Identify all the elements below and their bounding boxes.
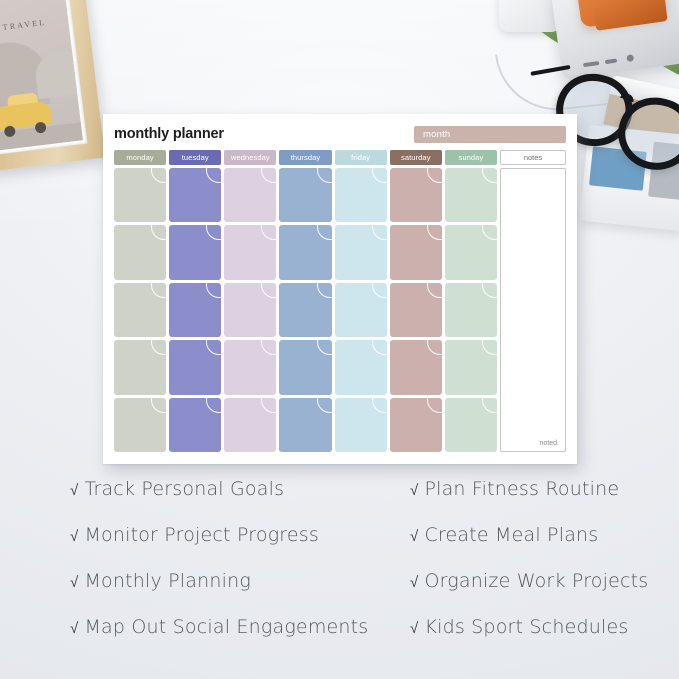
calendar-cell[interactable] bbox=[224, 398, 276, 452]
calendar-cell[interactable] bbox=[169, 340, 221, 394]
benefit-item: √Monthly Planning bbox=[70, 570, 410, 616]
calendar-cell[interactable] bbox=[335, 225, 387, 279]
benefit-item: √Plan Fitness Routine bbox=[410, 478, 679, 524]
calendar-cell[interactable] bbox=[445, 340, 497, 394]
calendar-cell[interactable] bbox=[335, 283, 387, 337]
benefit-label: Plan Fitness Routine bbox=[424, 478, 619, 500]
checkmark-icon: √ bbox=[410, 573, 418, 591]
benefit-item: √Organize Work Projects bbox=[410, 570, 679, 616]
notes-column: notes noted. bbox=[500, 150, 566, 452]
notes-writing-area[interactable]: noted. bbox=[500, 168, 566, 452]
benefit-label: Organize Work Projects bbox=[424, 570, 648, 592]
calendar-cell[interactable] bbox=[114, 168, 166, 222]
calendar-cell[interactable] bbox=[335, 168, 387, 222]
calendar-cell[interactable] bbox=[114, 225, 166, 279]
calendar-cell[interactable] bbox=[224, 225, 276, 279]
calendar-cell[interactable] bbox=[445, 225, 497, 279]
calendar-cell[interactable] bbox=[169, 398, 221, 452]
picture-frame-photo: TRAVEL bbox=[0, 0, 83, 151]
picture-frame-icon: TRAVEL bbox=[0, 0, 105, 173]
benefit-label: Monitor Project Progress bbox=[84, 524, 319, 546]
calendar-cell[interactable] bbox=[390, 283, 442, 337]
checkmark-icon: √ bbox=[410, 527, 418, 545]
day-header-wednesday: wednesday bbox=[224, 150, 276, 165]
laptop-port bbox=[626, 54, 634, 62]
month-placeholder-label: month bbox=[423, 129, 450, 140]
day-header-tuesday: tuesday bbox=[169, 150, 221, 165]
calendar-cell[interactable] bbox=[114, 340, 166, 394]
checkmark-icon: √ bbox=[70, 527, 78, 545]
calendar-cell[interactable] bbox=[390, 225, 442, 279]
day-header-friday: friday bbox=[335, 150, 387, 165]
benefit-label: Track Personal Goals bbox=[84, 478, 284, 500]
day-header-monday: monday bbox=[114, 150, 166, 165]
calendar-cell[interactable] bbox=[390, 340, 442, 394]
picture-frame-caption: TRAVEL bbox=[0, 15, 69, 35]
calendar-grid: mondaytuesdaywednesdaythursdayfridaysatu… bbox=[114, 150, 566, 452]
calendar-cell[interactable] bbox=[224, 168, 276, 222]
calendar-cell[interactable] bbox=[279, 225, 331, 279]
calendar-cell[interactable] bbox=[114, 398, 166, 452]
monthly-planner-sheet: monthly planner month mondaytuesdaywedne… bbox=[103, 114, 577, 464]
benefit-item: √Create Meal Plans bbox=[410, 524, 679, 570]
calendar-cell[interactable] bbox=[390, 168, 442, 222]
month-input[interactable]: month bbox=[414, 126, 566, 143]
checkmark-icon: √ bbox=[410, 619, 418, 637]
benefit-label: Monthly Planning bbox=[84, 570, 251, 592]
calendar-cell[interactable] bbox=[335, 340, 387, 394]
checkmark-icon: √ bbox=[70, 573, 78, 591]
calendar-cell[interactable] bbox=[445, 398, 497, 452]
benefit-label: Create Meal Plans bbox=[424, 524, 598, 546]
notes-brand-footer: noted. bbox=[540, 440, 559, 447]
photo-hill-shape-secondary bbox=[33, 47, 83, 99]
calendar-cell[interactable] bbox=[169, 283, 221, 337]
day-header-saturday: saturday bbox=[390, 150, 442, 165]
page-title: monthly planner bbox=[114, 127, 224, 142]
calendar-cell[interactable] bbox=[279, 398, 331, 452]
benefit-label: Map Out Social Engagements bbox=[84, 616, 368, 638]
checkmark-icon: √ bbox=[70, 481, 78, 499]
calendar-days-area: mondaytuesdaywednesdaythursdayfridaysatu… bbox=[114, 150, 497, 452]
planner-header-bar: monthly planner month bbox=[114, 124, 566, 145]
calendar-cell[interactable] bbox=[224, 340, 276, 394]
benefit-item: √Track Personal Goals bbox=[70, 478, 410, 524]
calendar-cell[interactable] bbox=[169, 225, 221, 279]
calendar-cell[interactable] bbox=[279, 283, 331, 337]
checkmark-icon: √ bbox=[410, 481, 418, 499]
checkmark-icon: √ bbox=[70, 619, 78, 637]
benefit-item: √Kids Sport Schedules bbox=[410, 616, 679, 662]
benefit-item: √Map Out Social Engagements bbox=[70, 616, 410, 662]
benefit-label: Kids Sport Schedules bbox=[424, 616, 628, 638]
picture-frame-mat: TRAVEL bbox=[0, 0, 87, 155]
notes-header: notes bbox=[500, 150, 566, 165]
day-header-thursday: thursday bbox=[279, 150, 331, 165]
calendar-cell[interactable] bbox=[114, 283, 166, 337]
calendar-cell[interactable] bbox=[445, 168, 497, 222]
benefits-list: √Track Personal Goals√Plan Fitness Routi… bbox=[0, 478, 679, 662]
calendar-cell[interactable] bbox=[445, 283, 497, 337]
benefit-item: √Monitor Project Progress bbox=[70, 524, 410, 570]
calendar-cell[interactable] bbox=[279, 168, 331, 222]
calendar-cell[interactable] bbox=[224, 283, 276, 337]
calendar-cell[interactable] bbox=[390, 398, 442, 452]
calendar-cell[interactable] bbox=[335, 398, 387, 452]
day-header-sunday: sunday bbox=[445, 150, 497, 165]
calendar-cell[interactable] bbox=[169, 168, 221, 222]
calendar-cell[interactable] bbox=[279, 340, 331, 394]
